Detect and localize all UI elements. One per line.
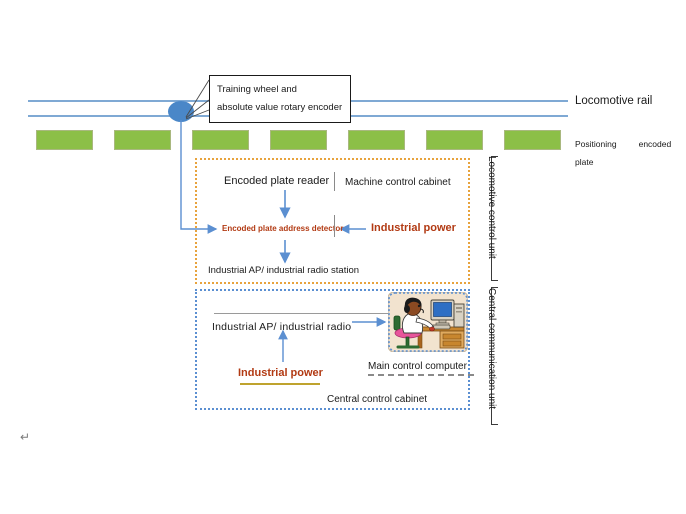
dashed-rule-under-main-computer [368,374,474,376]
label-industrial-ap-radio-station: Industrial AP/ industrial radio station [208,265,359,276]
label-industrial-ap-radio: Industrial AP/ industrial radio [212,321,351,333]
bracket-tick-central-bottom [491,424,498,425]
label-industrial-power-central: Industrial power [238,367,323,379]
bracket-tick-loco-bottom [491,280,498,281]
divider-rule-top [334,172,335,191]
label-main-control-computer: Main control computer [368,361,467,372]
callout-leader-lines [186,80,209,119]
label-encoded-plate-address-detector: Encoded plate address detector [222,224,343,233]
label-industrial-power-locomotive: Industrial power [371,222,456,234]
paragraph-mark-icon: ↵ [20,430,30,444]
label-locomotive-control-unit: Locomotive control unit [486,156,497,259]
label-central-control-cabinet: Central control cabinet [327,394,427,405]
rule-under-industrial-power [240,383,320,385]
label-central-communication-unit: Central communication unit [486,288,497,409]
label-machine-control-cabinet: Machine control cabinet [345,177,451,188]
diagram-canvas: Training wheel and absolute value rotary… [0,0,686,514]
label-encoded-plate-reader: Encoded plate reader [224,175,329,187]
divider-rule-bottom [334,215,335,237]
main-control-computer-clipart [388,292,468,352]
